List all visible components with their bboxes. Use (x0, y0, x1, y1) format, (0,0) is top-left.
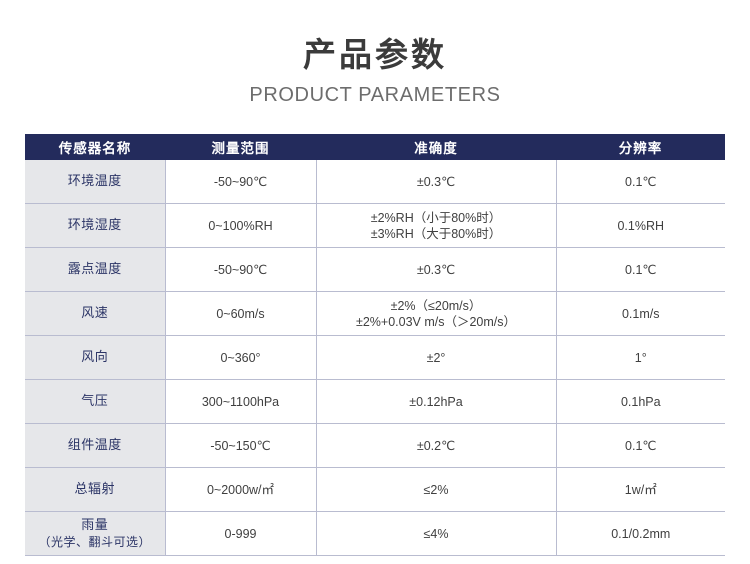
table-row: 雨量（光学、翻斗可选）0-999≤4%0.1/0.2mm (25, 512, 725, 556)
cell-sensor-name: 总辐射 (25, 468, 165, 512)
sensor-name-text: 风速 (29, 306, 161, 322)
cell-sensor-name: 环境湿度 (25, 204, 165, 248)
cell-sensor-name: 雨量（光学、翻斗可选） (25, 512, 165, 556)
cell-accuracy: ≤2% (316, 468, 556, 512)
cell-resolution: 0.1m/s (556, 292, 725, 336)
cell-measure-range: 0~2000w/㎡ (165, 468, 316, 512)
column-header-resolution: 分辨率 (556, 134, 725, 160)
accuracy-line-1: ±2° (321, 350, 552, 366)
cell-accuracy: ±0.12hPa (316, 380, 556, 424)
cell-measure-range: 0~360° (165, 336, 316, 380)
table-row: 环境温度-50~90℃±0.3℃0.1℃ (25, 160, 725, 204)
accuracy-line-1: ±0.3℃ (321, 262, 552, 278)
sensor-name-text: 环境湿度 (29, 218, 161, 234)
cell-accuracy: ≤4% (316, 512, 556, 556)
accuracy-line-1: ±2%（≤20m/s） (321, 298, 552, 314)
cell-resolution: 0.1℃ (556, 248, 725, 292)
sensor-name-subtext: （光学、翻斗可选） (29, 534, 161, 550)
cell-measure-range: -50~150℃ (165, 424, 316, 468)
cell-accuracy: ±2%RH（小于80%时）±3%RH（大于80%时） (316, 204, 556, 248)
column-header-range: 测量范围 (165, 134, 316, 160)
cell-measure-range: -50~90℃ (165, 248, 316, 292)
accuracy-line-1: ±0.12hPa (321, 394, 552, 410)
cell-sensor-name: 露点温度 (25, 248, 165, 292)
cell-resolution: 0.1/0.2mm (556, 512, 725, 556)
accuracy-line-2: ±2%+0.03V m/s（＞20m/s） (321, 314, 552, 330)
cell-measure-range: -50~90℃ (165, 160, 316, 204)
product-parameters-table: 传感器名称 测量范围 准确度 分辨率 环境温度-50~90℃±0.3℃0.1℃环… (25, 134, 725, 556)
accuracy-line-1: ±2%RH（小于80%时） (321, 210, 552, 226)
sensor-name-text: 露点温度 (29, 262, 161, 278)
accuracy-line-1: ≤4% (321, 526, 552, 542)
cell-resolution: 0.1℃ (556, 160, 725, 204)
accuracy-line-1: ±0.2℃ (321, 438, 552, 454)
table-body: 环境温度-50~90℃±0.3℃0.1℃环境湿度0~100%RH±2%RH（小于… (25, 160, 725, 556)
cell-sensor-name: 环境温度 (25, 160, 165, 204)
table-row: 风向0~360°±2°1° (25, 336, 725, 380)
cell-accuracy: ±0.3℃ (316, 160, 556, 204)
sensor-name-text: 风向 (29, 350, 161, 366)
page-title-cn: 产品参数 (0, 34, 750, 76)
cell-sensor-name: 风向 (25, 336, 165, 380)
accuracy-line-1: ≤2% (321, 482, 552, 498)
table-row: 总辐射0~2000w/㎡≤2%1w/㎡ (25, 468, 725, 512)
cell-resolution: 0.1hPa (556, 380, 725, 424)
cell-resolution: 1w/㎡ (556, 468, 725, 512)
sensor-name-text: 气压 (29, 394, 161, 410)
sensor-name-text: 组件温度 (29, 438, 161, 454)
page-title-en: PRODUCT PARAMETERS (0, 81, 750, 109)
cell-accuracy: ±2%（≤20m/s）±2%+0.03V m/s（＞20m/s） (316, 292, 556, 336)
table-row: 组件温度-50~150℃±0.2℃0.1℃ (25, 424, 725, 468)
cell-measure-range: 0-999 (165, 512, 316, 556)
page-heading: 产品参数 PRODUCT PARAMETERS (0, 0, 750, 109)
cell-accuracy: ±2° (316, 336, 556, 380)
cell-resolution: 0.1%RH (556, 204, 725, 248)
sensor-name-text: 雨量 (29, 518, 161, 534)
cell-resolution: 1° (556, 336, 725, 380)
cell-accuracy: ±0.3℃ (316, 248, 556, 292)
sensor-name-text: 总辐射 (29, 482, 161, 498)
table-header-row: 传感器名称 测量范围 准确度 分辨率 (25, 134, 725, 160)
table-row: 风速0~60m/s±2%（≤20m/s）±2%+0.03V m/s（＞20m/s… (25, 292, 725, 336)
column-header-name: 传感器名称 (25, 134, 165, 160)
accuracy-line-1: ±0.3℃ (321, 174, 552, 190)
cell-resolution: 0.1℃ (556, 424, 725, 468)
cell-measure-range: 300~1100hPa (165, 380, 316, 424)
cell-measure-range: 0~60m/s (165, 292, 316, 336)
cell-sensor-name: 风速 (25, 292, 165, 336)
spec-table-container: 传感器名称 测量范围 准确度 分辨率 环境温度-50~90℃±0.3℃0.1℃环… (25, 134, 725, 556)
table-row: 露点温度-50~90℃±0.3℃0.1℃ (25, 248, 725, 292)
sensor-name-text: 环境温度 (29, 174, 161, 190)
cell-measure-range: 0~100%RH (165, 204, 316, 248)
table-row: 气压300~1100hPa±0.12hPa0.1hPa (25, 380, 725, 424)
cell-sensor-name: 组件温度 (25, 424, 165, 468)
cell-accuracy: ±0.2℃ (316, 424, 556, 468)
table-header: 传感器名称 测量范围 准确度 分辨率 (25, 134, 725, 160)
table-row: 环境湿度0~100%RH±2%RH（小于80%时）±3%RH（大于80%时）0.… (25, 204, 725, 248)
accuracy-line-2: ±3%RH（大于80%时） (321, 226, 552, 242)
cell-sensor-name: 气压 (25, 380, 165, 424)
column-header-accuracy: 准确度 (316, 134, 556, 160)
